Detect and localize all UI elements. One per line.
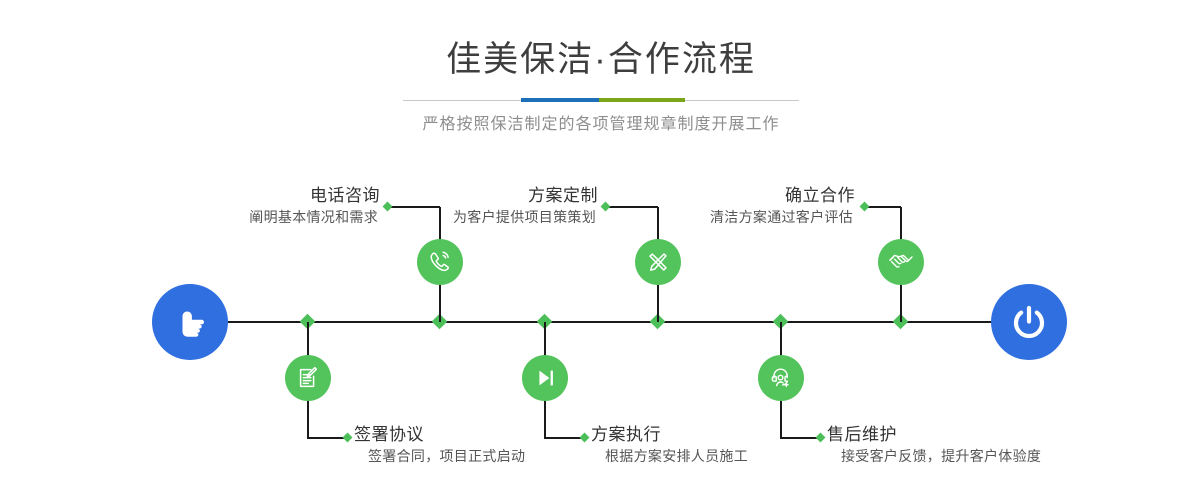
headset-support-icon [768,365,794,391]
label-marker [343,433,353,443]
document-edit-icon [295,365,321,391]
hand-pointer-icon [170,302,210,342]
step-node-4[interactable] [522,355,568,401]
label-marker [860,202,870,212]
step-title: 电话咨询 [130,185,380,207]
step-desc: 接受客户反馈，提升客户体验度 [827,446,1147,466]
step-label-6: 售后维护 接受客户反馈，提升客户体验度 [827,424,1147,466]
step-label-3: 方案定制 为客户提供项目策策划 [348,185,598,227]
process-timeline: 电话咨询 阐明基本情况和需求 方案定制 为客户提供项目策策划 [0,0,1202,502]
step-title: 方案定制 [348,185,598,207]
step-desc: 阐明基本情况和需求 [130,207,380,227]
step-desc: 为客户提供项目策策划 [348,207,598,227]
phone-ring-icon [427,249,453,275]
step-node-6[interactable] [758,355,804,401]
timeline-finish-node[interactable] [991,284,1067,360]
timeline-start-node[interactable] [152,284,228,360]
step-title: 售后维护 [827,424,1147,446]
step-title: 确立合作 [605,185,855,207]
step-node-2[interactable] [285,355,331,401]
step-desc: 清洁方案通过客户评估 [605,207,855,227]
power-icon [1008,301,1050,343]
pencil-ruler-icon [645,249,671,275]
handshake-icon [887,248,915,276]
connector-horizontal [866,206,901,208]
play-execute-icon [532,365,558,391]
step-label-5: 确立合作 清洁方案通过客户评估 [605,185,855,227]
flow-diagram-page: 佳美保洁·合作流程 严格按照保洁制定的各项管理规章制度开展工作 [0,0,1202,502]
step-label-1: 电话咨询 阐明基本情况和需求 [130,185,380,227]
step-node-5[interactable] [878,239,924,285]
step-node-3[interactable] [635,239,681,285]
step-node-1[interactable] [417,239,463,285]
